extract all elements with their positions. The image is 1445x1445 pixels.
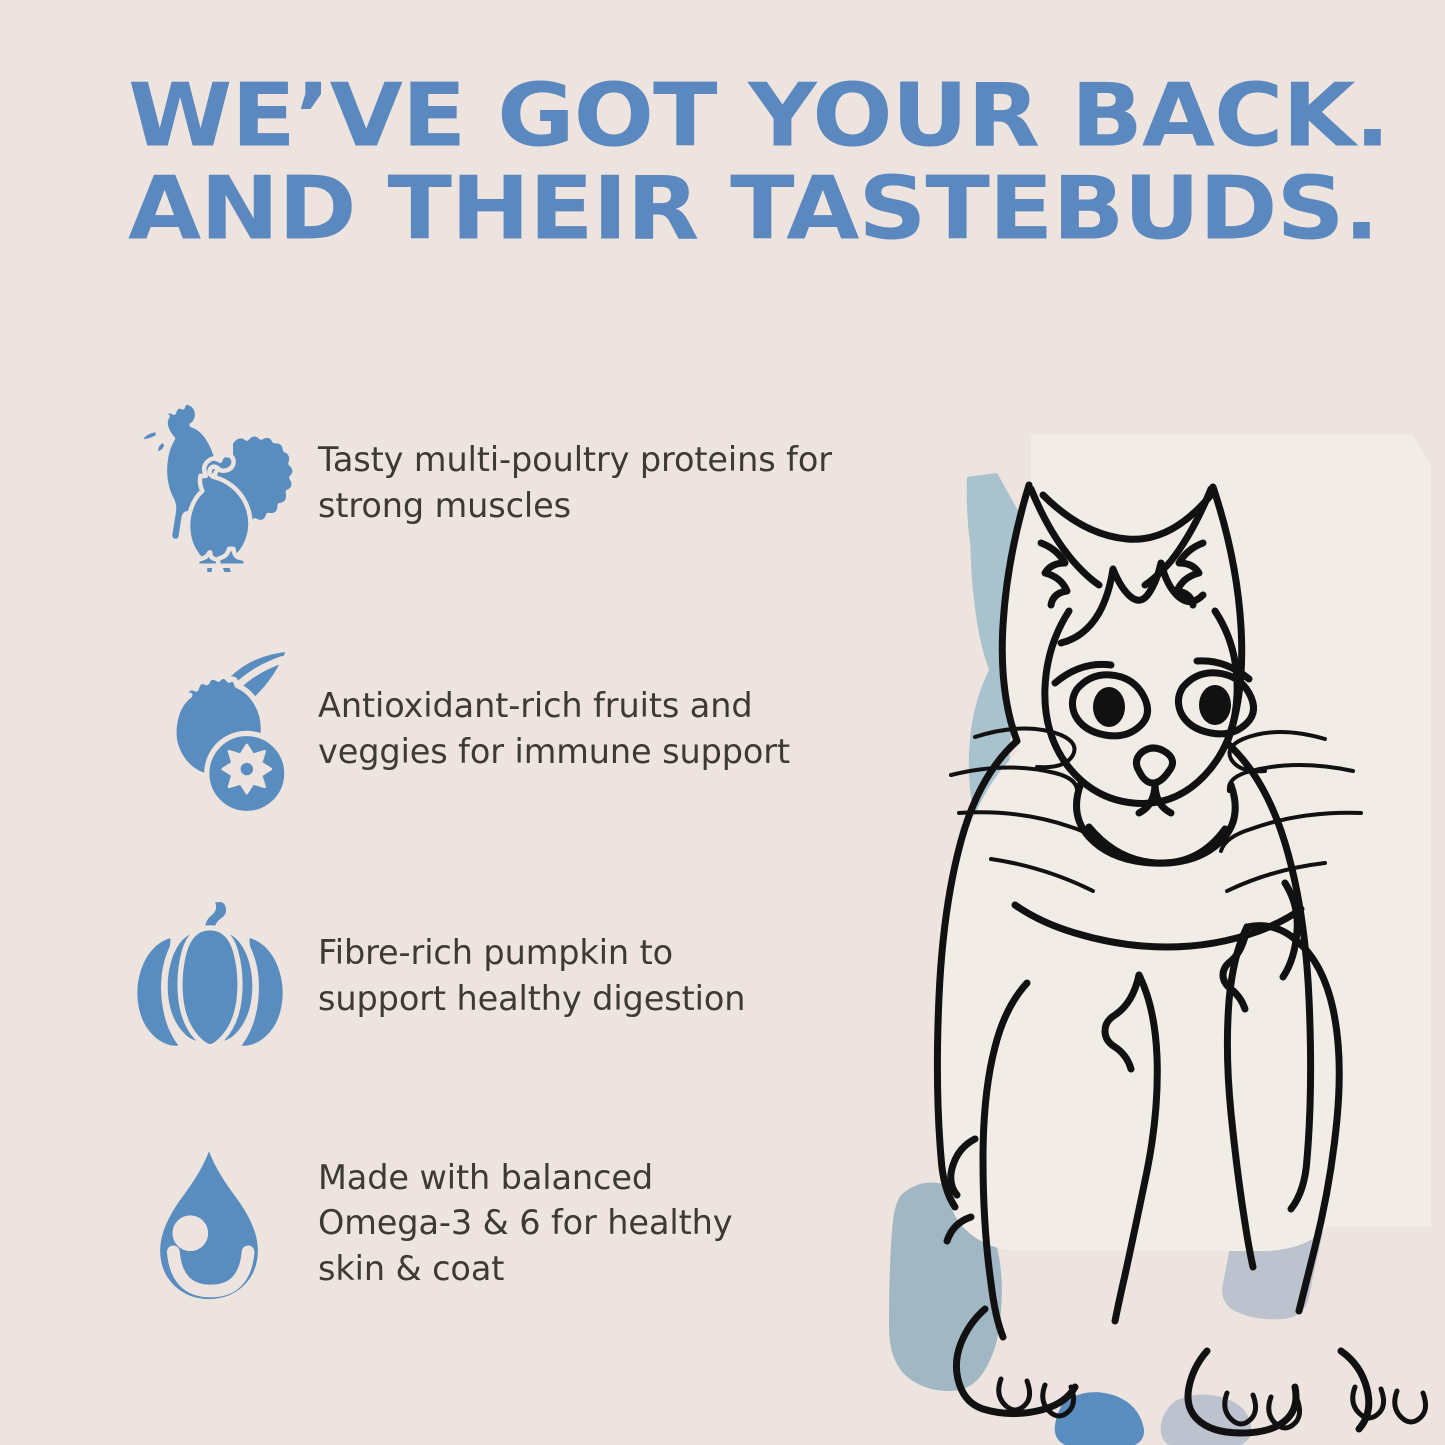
- feature-item-omega: Made with balanced Omega-3 & 6 for healt…: [118, 1123, 928, 1323]
- poultry-icon: [118, 394, 318, 572]
- page-title: WE’VE GOT YOUR BACK. AND THEIR TASTEBUDS…: [128, 74, 1368, 252]
- feature-list: Tasty multi-poultry proteins for strong …: [118, 388, 928, 1323]
- feature-item-poultry: Tasty multi-poultry proteins for strong …: [118, 388, 928, 578]
- feature-text-poultry: Tasty multi-poultry proteins for strong …: [318, 437, 832, 528]
- headline-line-1: WE’VE GOT YOUR BACK.: [128, 73, 1445, 160]
- feature-text-pumpkin: Fibre-rich pumpkin to support healthy di…: [318, 930, 745, 1021]
- feature-item-pumpkin: Fibre-rich pumpkin to support healthy di…: [118, 883, 928, 1068]
- promo-page: WE’VE GOT YOUR BACK. AND THEIR TASTEBUDS…: [0, 0, 1445, 1445]
- water-droplet-icon: [118, 1138, 318, 1308]
- berries-icon: [118, 640, 318, 818]
- cat-illustration: [855, 435, 1445, 1445]
- headline-line-2: AND THEIR TASTEBUDS.: [128, 166, 1445, 253]
- pumpkin-icon: [118, 890, 318, 1062]
- feature-text-berries: Antioxidant-rich fruits and veggies for …: [318, 683, 790, 774]
- feature-item-berries: Antioxidant-rich fruits and veggies for …: [118, 636, 928, 821]
- feature-text-omega: Made with balanced Omega-3 & 6 for healt…: [318, 1155, 732, 1292]
